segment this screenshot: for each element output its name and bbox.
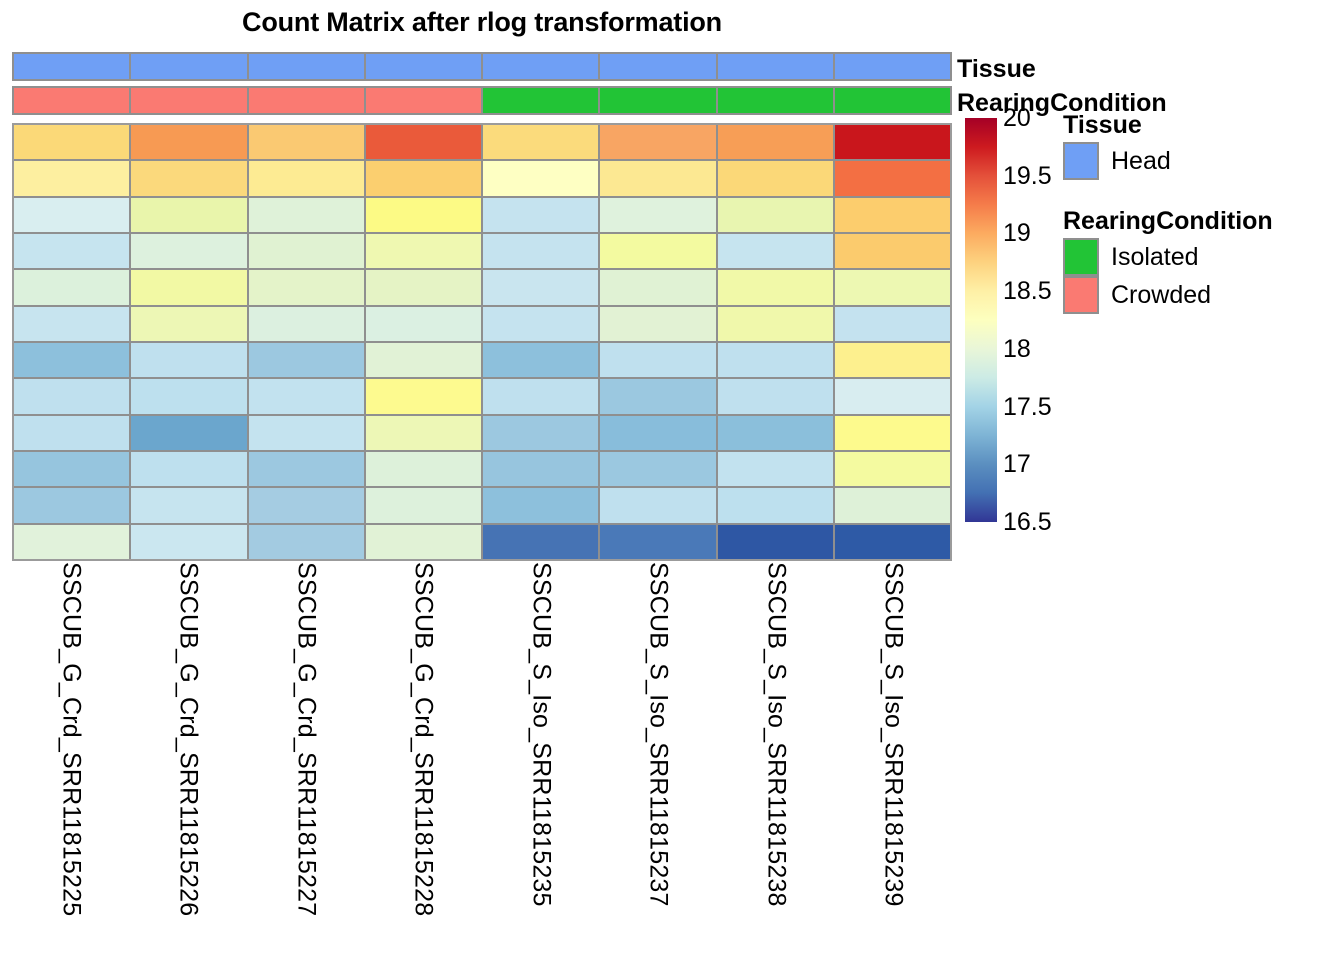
column-label-cell: SSCUB_S_Iso_SRR11815239 [835, 562, 953, 952]
legend-title-tissue: Tissue [1063, 110, 1344, 140]
tissue-anno-cell [366, 54, 481, 79]
tissue-anno-cell [249, 54, 364, 79]
heatmap-cell [718, 307, 833, 341]
tissue-annotation-bar [12, 52, 952, 81]
heatmap-cell [600, 416, 715, 450]
heatmap-cell [718, 343, 833, 377]
colorbar-tick-label: 19.5 [1003, 164, 1052, 189]
legend-panel: TissueHeadRearingConditionIsolatedCrowde… [1063, 110, 1344, 314]
colorbar-tick-label: 19 [1003, 221, 1031, 246]
colorbar-gradient [965, 118, 997, 522]
heatmap-cell [14, 416, 129, 450]
heatmap-cell [14, 125, 129, 159]
heatmap-cell [366, 343, 481, 377]
column-label: SSCUB_S_Iso_SRR11815238 [763, 562, 788, 907]
heatmap-cell [249, 379, 364, 413]
heatmap-cell [131, 525, 246, 559]
heatmap-cell [249, 198, 364, 232]
heatmap-cell [366, 452, 481, 486]
colorbar-tick-label: 18.5 [1003, 279, 1052, 304]
heatmap-cell [366, 234, 481, 268]
colorbar-tick-label: 17 [1003, 452, 1031, 477]
heatmap-area [12, 52, 952, 561]
heatmap-cell [366, 525, 481, 559]
tissue-anno-cell [14, 54, 129, 79]
column-label: SSCUB_S_Iso_SRR11815239 [881, 562, 906, 907]
heatmap-cell [483, 234, 598, 268]
heatmap-cell [249, 416, 364, 450]
heatmap-cell [366, 125, 481, 159]
heatmap-cell [249, 525, 364, 559]
legend-label: Crowded [1111, 283, 1211, 308]
rearing-anno-cell [718, 88, 833, 113]
rearing-anno-cell [14, 88, 129, 113]
column-label: SSCUB_G_Crd_SRR11815225 [58, 562, 83, 916]
heatmap-cell [131, 379, 246, 413]
heatmap-cell [14, 270, 129, 304]
heatmap-cell [718, 125, 833, 159]
tissue-anno-cell [600, 54, 715, 79]
heatmap-cell [718, 416, 833, 450]
heatmap-cell [600, 343, 715, 377]
tissue-anno-cell [835, 54, 950, 79]
heatmap-cell [483, 125, 598, 159]
heatmap-cell [718, 270, 833, 304]
heatmap-cell [835, 525, 950, 559]
heatmap-cell [483, 270, 598, 304]
heatmap-cell [249, 125, 364, 159]
heatmap-cell [366, 198, 481, 232]
heatmap-cell [366, 488, 481, 522]
heatmap-cell [14, 307, 129, 341]
column-label-cell: SSCUB_S_Iso_SRR11815237 [600, 562, 718, 952]
heatmap-cell [835, 270, 950, 304]
heatmap-cell [131, 161, 246, 195]
heatmap-cell [600, 270, 715, 304]
heatmap-cell [600, 452, 715, 486]
heatmap-cell [249, 452, 364, 486]
heatmap-cell [14, 379, 129, 413]
rearing-anno-cell [600, 88, 715, 113]
heatmap-cell [14, 343, 129, 377]
heatmap-cell [600, 198, 715, 232]
heatmap-cell [835, 452, 950, 486]
legend-label: Head [1111, 149, 1171, 174]
column-label-cell: SSCUB_S_Iso_SRR11815235 [482, 562, 600, 952]
heatmap-cell [483, 343, 598, 377]
heatmap-cell [718, 161, 833, 195]
colorbar-tick-label: 20 [1003, 106, 1031, 131]
heatmap-cell [14, 161, 129, 195]
heatmap-cell [14, 452, 129, 486]
heatmap-cell [131, 452, 246, 486]
heatmap-cell [835, 307, 950, 341]
heatmap-cell [131, 307, 246, 341]
heatmap-cell [366, 379, 481, 413]
heatmap-cell [835, 379, 950, 413]
heatmap-cell [718, 525, 833, 559]
heatmap-cell [131, 270, 246, 304]
column-label-cell: SSCUB_G_Crd_SRR11815228 [365, 562, 483, 952]
heatmap-cell [835, 343, 950, 377]
heatmap-cell [131, 198, 246, 232]
colorbar-tick-label: 17.5 [1003, 395, 1052, 420]
rearing-condition-annotation-bar [12, 86, 952, 115]
rearing-anno-cell [249, 88, 364, 113]
column-label-cell: SSCUB_S_Iso_SRR11815238 [717, 562, 835, 952]
heatmap-cell [483, 452, 598, 486]
heatmap-cell [835, 198, 950, 232]
legend-item[interactable]: Head [1063, 142, 1344, 180]
heatmap-cell [483, 416, 598, 450]
column-label: SSCUB_G_Crd_SRR11815227 [293, 562, 318, 916]
heatmap-cell [249, 343, 364, 377]
page-title: Count Matrix after rlog transformation [12, 2, 952, 42]
heatmap-cell [131, 343, 246, 377]
heatmap-cell [600, 161, 715, 195]
heatmap-cell [131, 488, 246, 522]
rearing-anno-cell [131, 88, 246, 113]
heatmap-cell [131, 416, 246, 450]
heatmap-cell [718, 198, 833, 232]
heatmap-cell [835, 416, 950, 450]
heatmap-cell [249, 234, 364, 268]
column-label: SSCUB_G_Crd_SRR11815226 [176, 562, 201, 916]
legend-item[interactable]: Crowded [1063, 276, 1344, 314]
heatmap-cell [366, 307, 481, 341]
column-label: SSCUB_S_Iso_SRR11815235 [528, 562, 553, 907]
tissue-anno-cell [131, 54, 246, 79]
column-label-row: SSCUB_G_Crd_SRR11815225SSCUB_G_Crd_SRR11… [12, 562, 952, 952]
column-label: SSCUB_S_Iso_SRR11815237 [646, 562, 671, 907]
rearing-anno-cell [483, 88, 598, 113]
heatmap-cell [718, 379, 833, 413]
heatmap-cell [600, 488, 715, 522]
heatmap-cell [366, 161, 481, 195]
heatmap-cell [366, 270, 481, 304]
heatmap-cell [600, 307, 715, 341]
legend-swatch-crowded [1063, 276, 1099, 314]
heatmap-cell [835, 234, 950, 268]
tissue-anno-cell [483, 54, 598, 79]
heatmap-cell [483, 525, 598, 559]
heatmap-cell [483, 307, 598, 341]
heatmap-cell [718, 234, 833, 268]
colorbar-tick-label: 18 [1003, 337, 1031, 362]
column-label-cell: SSCUB_G_Crd_SRR11815226 [130, 562, 248, 952]
heatmap-cell [483, 488, 598, 522]
heatmap-cell [600, 379, 715, 413]
legend-title-rearingcondition: RearingCondition [1063, 206, 1344, 236]
heatmap-cell [14, 198, 129, 232]
heatmap-cell [483, 198, 598, 232]
legend-swatch-head [1063, 142, 1099, 180]
heatmap-cell [131, 125, 246, 159]
column-label: SSCUB_G_Crd_SRR11815228 [411, 562, 436, 916]
heatmap-cell [14, 234, 129, 268]
legend-spacer [1063, 180, 1344, 206]
heatmap-cell [249, 307, 364, 341]
heatmap-cell [483, 379, 598, 413]
heatmap-cell [835, 125, 950, 159]
heatmap-cell [600, 525, 715, 559]
heatmap-cell [14, 525, 129, 559]
heatmap-cell [366, 416, 481, 450]
rearing-anno-cell [835, 88, 950, 113]
heatmap-cell [483, 161, 598, 195]
heatmap-cell [600, 125, 715, 159]
column-label-cell: SSCUB_G_Crd_SRR11815225 [12, 562, 130, 952]
heatmap-cell [14, 488, 129, 522]
legend-item[interactable]: Isolated [1063, 238, 1344, 276]
tissue-anno-cell [718, 54, 833, 79]
heatmap-cell [718, 452, 833, 486]
rearing-anno-cell [366, 88, 481, 113]
colorbar-tick-label: 16.5 [1003, 510, 1052, 535]
column-label-cell: SSCUB_G_Crd_SRR11815227 [247, 562, 365, 952]
heatmap-cell [249, 161, 364, 195]
legend-label: Isolated [1111, 245, 1199, 270]
heatmap-cell [600, 234, 715, 268]
heatmap-cell [249, 488, 364, 522]
annotation-name-tissue: Tissue [957, 52, 1257, 86]
heatmap-cell [835, 161, 950, 195]
heatmap-cell [718, 488, 833, 522]
heatmap-cell [249, 270, 364, 304]
heatmap-cell [835, 488, 950, 522]
heatmap-cell [131, 234, 246, 268]
heatmap-matrix [12, 123, 952, 561]
legend-swatch-isolated [1063, 238, 1099, 276]
